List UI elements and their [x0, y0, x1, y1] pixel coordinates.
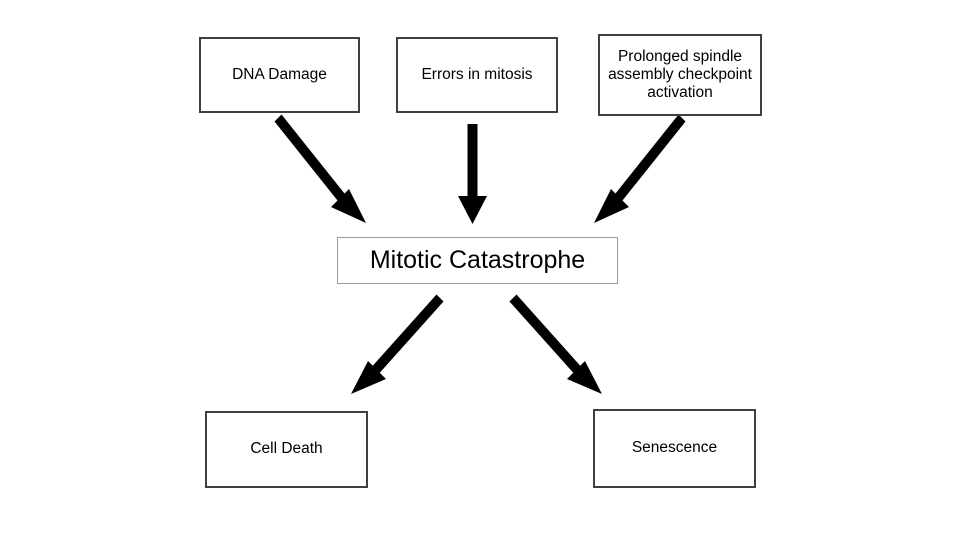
- arrow-center-to-cell-death: [351, 295, 444, 395]
- node-prolonged-spindle-activation-label: Prolonged spindle assembly checkpoint ac…: [608, 48, 752, 103]
- node-senescence-label: Senescence: [632, 439, 717, 457]
- node-cell-death[interactable]: Cell Death: [205, 411, 368, 488]
- node-dna-damage[interactable]: DNA Damage: [199, 37, 360, 113]
- arrow-errors-to-center: [458, 124, 487, 224]
- arrow-center-to-senescence: [510, 295, 603, 395]
- arrow-spindle-to-center: [594, 115, 686, 224]
- node-errors-in-mitosis[interactable]: Errors in mitosis: [396, 37, 558, 113]
- arrow-dna-damage-to-center: [275, 115, 367, 224]
- node-prolonged-spindle-activation[interactable]: Prolonged spindle assembly checkpoint ac…: [598, 34, 762, 116]
- node-dna-damage-label: DNA Damage: [232, 66, 327, 84]
- node-cell-death-label: Cell Death: [250, 440, 322, 458]
- node-senescence[interactable]: Senescence: [593, 409, 756, 488]
- node-mitotic-catastrophe[interactable]: Mitotic Catastrophe: [337, 237, 618, 284]
- node-mitotic-catastrophe-label: Mitotic Catastrophe: [370, 246, 585, 276]
- diagram-canvas: DNA Damage Errors in mitosis Prolonged s…: [0, 0, 960, 540]
- node-errors-in-mitosis-label: Errors in mitosis: [421, 66, 532, 84]
